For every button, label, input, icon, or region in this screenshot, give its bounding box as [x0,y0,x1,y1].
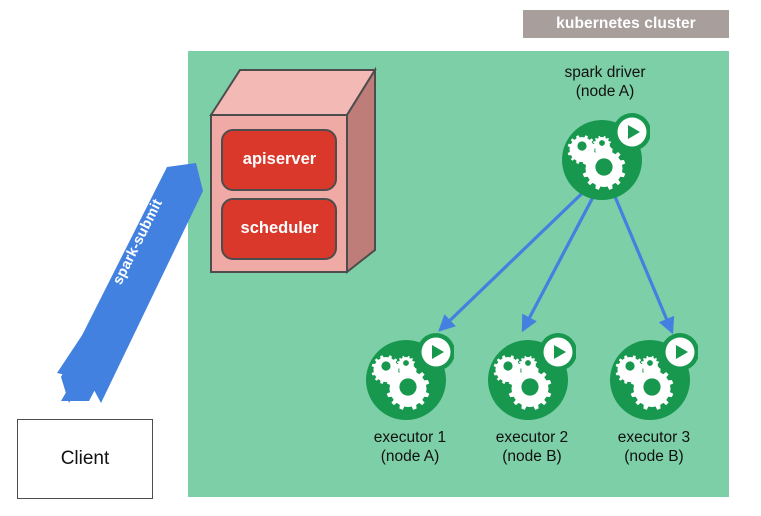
spark-driver-node: (node A) [525,82,685,101]
diagram-canvas: kubernetes cluster Client spark-submit a… [0,0,761,516]
spark-driver-icon[interactable] [558,110,650,202]
executor-3-caption: executor 3 (node B) [579,428,729,466]
executor-3-node: (node B) [579,447,729,466]
control-plane-cube-icon [195,62,380,282]
executor-3-name: executor 3 [579,428,729,447]
kubernetes-cluster-badge: kubernetes cluster [523,10,729,38]
client-box[interactable]: Client [17,419,153,499]
spark-driver-name: spark driver [525,63,685,82]
spark-submit-arrow-body [55,163,205,403]
executor-3-icon[interactable] [606,330,698,422]
spark-driver-caption: spark driver (node A) [525,63,685,101]
executor-2-icon[interactable] [484,330,576,422]
executor-1-icon[interactable] [362,330,454,422]
client-label: Client [61,448,110,470]
